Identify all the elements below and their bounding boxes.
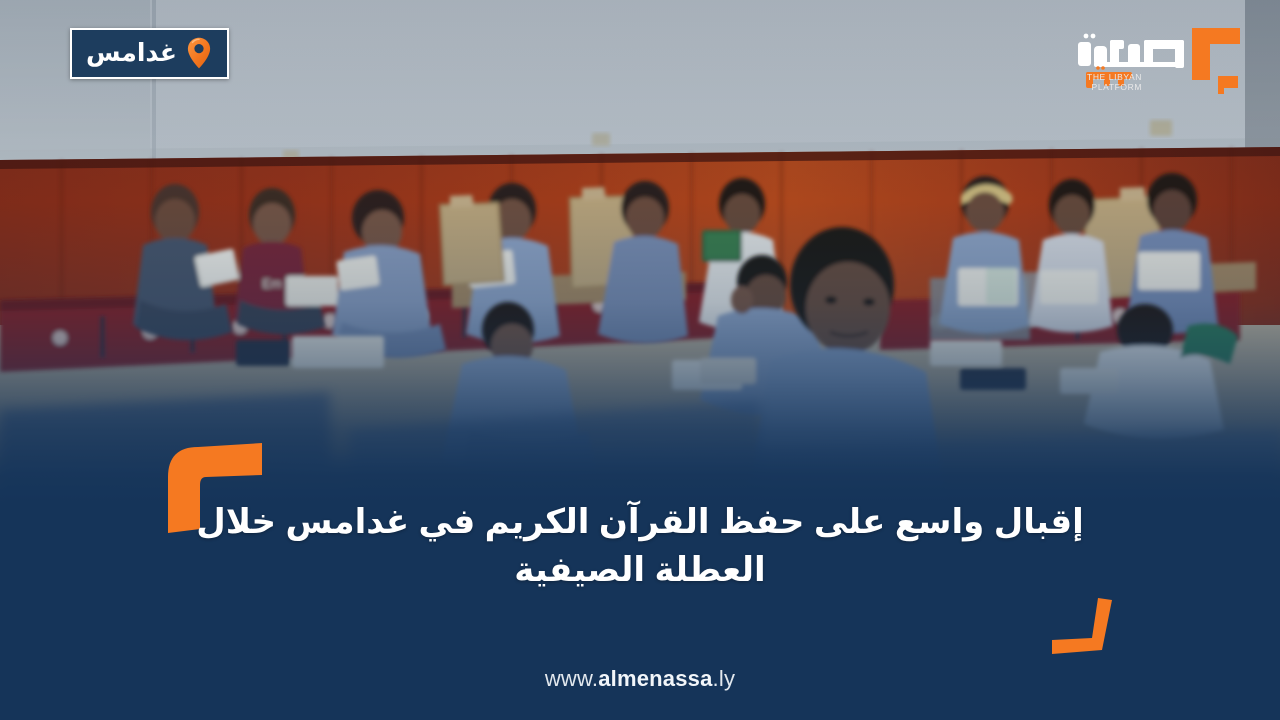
site-url-name: almenassa — [598, 666, 712, 691]
site-url-prefix: www. — [545, 666, 598, 691]
svg-text:PLATFORM: PLATFORM — [1092, 82, 1142, 92]
svg-text:Em: Em — [262, 276, 282, 291]
headline-line-1: إقبال واسع على حفظ القرآن الكريم في غدام… — [170, 498, 1110, 546]
map-pin-icon — [187, 37, 211, 69]
news-card: Em — [0, 0, 1280, 720]
location-badge-label: غدامس — [86, 41, 177, 66]
headline: إقبال واسع على حفظ القرآن الكريم في غدام… — [0, 498, 1280, 595]
almanassa-logo[interactable]: THE LIBYAN PLATFORM — [1042, 18, 1252, 100]
location-badge[interactable]: غدامس — [70, 28, 229, 79]
almanassa-logo-mark: THE LIBYAN PLATFORM — [1042, 18, 1252, 100]
headline-line-2: العطلة الصيفية — [170, 546, 1110, 594]
svg-text:THE LIBYAN: THE LIBYAN — [1087, 72, 1142, 82]
site-url-tld: .ly — [713, 666, 736, 691]
corner-bracket-bottom-right — [1050, 598, 1120, 658]
site-url[interactable]: www.almenassa.ly — [0, 666, 1280, 692]
